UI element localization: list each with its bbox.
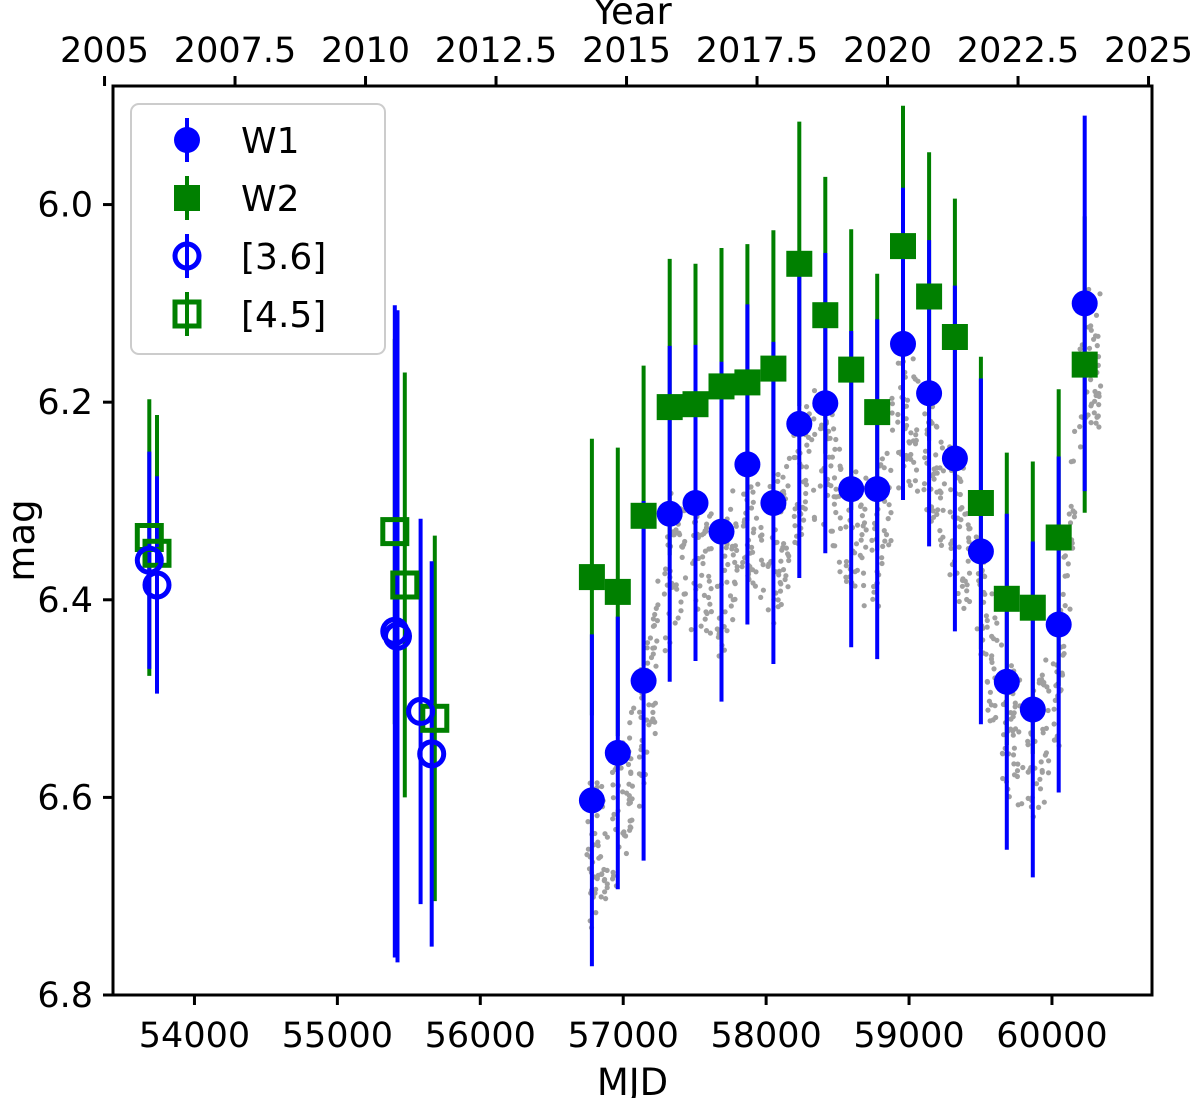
gray-scatter-point [785, 551, 790, 556]
gray-scatter-point [1046, 688, 1051, 693]
datapoint-W2 [579, 564, 605, 590]
gray-scatter-point [906, 439, 911, 444]
gray-scatter-point [700, 561, 705, 566]
gray-scatter-point [628, 825, 633, 830]
gray-scatter-point [610, 816, 615, 821]
gray-scatter-point [734, 548, 739, 553]
gray-scatter-point [1020, 765, 1025, 770]
gray-scatter-point [1011, 761, 1016, 766]
gray-scatter-point [859, 502, 864, 507]
gray-scatter-point [1040, 727, 1045, 732]
gray-scatter-point [801, 518, 806, 523]
gray-scatter-point [1061, 644, 1066, 649]
gray-scatter-point [960, 584, 965, 589]
gray-scatter-point [833, 437, 838, 442]
gray-scatter-point [834, 487, 839, 492]
gray-scatter-point [1078, 444, 1083, 449]
gray-scatter-point [663, 635, 668, 640]
datapoint-W1 [838, 476, 864, 502]
gray-scatter-point [913, 432, 918, 437]
gray-scatter-point [915, 489, 920, 494]
datapoint-W1 [968, 538, 994, 564]
gray-scatter-point [853, 469, 858, 474]
datapoint-W1 [864, 476, 890, 502]
top-axis-title: Year [592, 0, 672, 33]
gray-scatter-point [882, 465, 887, 470]
datapoint-W2 [605, 579, 631, 605]
gray-scatter-point [1093, 333, 1098, 338]
gray-scatter-point [637, 754, 642, 759]
gray-scatter-point [724, 580, 729, 585]
gray-scatter-point [941, 468, 946, 473]
gray-scatter-point [741, 523, 746, 528]
gray-scatter-point [804, 443, 809, 448]
light-curve-figure: 54000550005600057000580005900060000MJD6.… [0, 0, 1200, 1098]
legend-label-45: [4.5] [241, 295, 326, 336]
gray-scatter-point [702, 593, 707, 598]
gray-scatter-point [787, 456, 792, 461]
gray-scatter-point [683, 575, 688, 580]
gray-scatter-point [994, 638, 999, 643]
gray-scatter-point [1052, 707, 1057, 712]
gray-scatter-point [830, 529, 835, 534]
gray-scatter-point [682, 592, 687, 597]
gray-scatter-point [1067, 607, 1072, 612]
gray-scatter-point [806, 435, 811, 440]
gray-scatter-point [778, 559, 783, 564]
datapoint-W1 [605, 740, 631, 766]
gray-scatter-point [803, 506, 808, 511]
gray-scatter-point [662, 591, 667, 596]
gray-scatter-point [1066, 561, 1071, 566]
gray-scatter-point [942, 481, 947, 486]
xtick-label: 55000 [282, 1016, 393, 1056]
datapoint-W2 [812, 302, 838, 328]
gray-scatter-point [653, 731, 658, 736]
gray-scatter-point [907, 453, 912, 458]
datapoint-W2 [1046, 525, 1072, 551]
gray-scatter-point [793, 455, 798, 460]
gray-scatter-point [759, 532, 764, 537]
datapoint-W2 [942, 324, 968, 350]
gray-scatter-point [785, 584, 790, 589]
gray-scatter-point [880, 544, 885, 549]
gray-scatter-point [637, 771, 642, 776]
gray-scatter-point [595, 813, 600, 818]
year-tick-label: 2012.5 [435, 31, 557, 71]
gray-scatter-point [778, 589, 783, 594]
gray-scatter-point [879, 555, 884, 560]
gray-scatter-point [948, 509, 953, 514]
gray-scatter-point [1072, 514, 1077, 519]
gray-scatter-point [1044, 750, 1049, 755]
gray-scatter-point [730, 617, 735, 622]
datapoint-W2 [838, 357, 864, 383]
gray-scatter-point [599, 871, 604, 876]
gray-scatter-point [895, 420, 900, 425]
datapoint-W2 [994, 586, 1020, 612]
gray-scatter-point [1078, 347, 1083, 352]
legend-marker-W2 [174, 185, 200, 211]
gray-scatter-point [1086, 325, 1091, 330]
gray-scatter-point [887, 502, 892, 507]
gray-scatter-point [1089, 420, 1094, 425]
gray-scatter-point [888, 468, 893, 473]
datapoint-W1 [760, 490, 786, 516]
gray-scatter-point [991, 666, 996, 671]
gray-scatter-point [682, 539, 687, 544]
gray-scatter-point [689, 627, 694, 632]
gray-scatter-point [676, 615, 681, 620]
gray-scatter-point [886, 516, 891, 521]
gray-scatter-point [662, 571, 667, 576]
gray-scatter-point [732, 580, 737, 585]
gray-scatter-point [781, 541, 786, 546]
gray-scatter-point [838, 466, 843, 471]
year-tick-label: 2017.5 [696, 31, 818, 71]
gray-scatter-point [602, 877, 607, 882]
gray-scatter-point [785, 483, 790, 488]
gray-scatter-point [646, 722, 651, 727]
gray-scatter-point [724, 545, 729, 550]
gray-scatter-point [758, 525, 763, 530]
xtick-label: 57000 [568, 1016, 679, 1056]
gray-scatter-point [1016, 802, 1021, 807]
gray-scatter-point [724, 628, 729, 633]
gray-scatter-point [988, 690, 993, 695]
gray-scatter-point [922, 455, 927, 460]
gray-scatter-point [908, 430, 913, 435]
gray-scatter-point [830, 455, 835, 460]
datapoint-W1 [812, 390, 838, 416]
gray-scatter-point [653, 664, 658, 669]
gray-scatter-point [984, 652, 989, 657]
gray-scatter-point [605, 835, 610, 840]
gray-scatter-point [1011, 752, 1016, 757]
gray-scatter-point [651, 703, 656, 708]
gray-scatter-point [629, 710, 634, 715]
gray-scatter-point [1040, 770, 1045, 775]
gray-scatter-point [585, 819, 590, 824]
gray-scatter-point [749, 545, 754, 550]
gray-scatter-point [645, 661, 650, 666]
gray-scatter-point [1065, 573, 1070, 578]
gray-scatter-point [966, 526, 971, 531]
gray-scatter-point [1094, 393, 1099, 398]
gray-scatter-point [624, 851, 629, 856]
gray-scatter-point [749, 505, 754, 510]
gray-scatter-point [812, 388, 817, 393]
gray-scatter-point [761, 588, 766, 593]
gray-scatter-point [964, 588, 969, 593]
datapoint-W1 [579, 787, 605, 813]
gray-scatter-point [697, 583, 702, 588]
gray-scatter-point [776, 472, 781, 477]
datapoint-W2 [916, 284, 942, 310]
gray-scatter-point [862, 507, 867, 512]
gray-scatter-point [948, 487, 953, 492]
gray-scatter-point [915, 379, 920, 384]
gray-scatter-point [914, 427, 919, 432]
gray-scatter-point [1071, 459, 1076, 464]
gray-scatter-point [879, 561, 884, 566]
y-axis-title: mag [0, 499, 43, 581]
gray-scatter-point [1097, 291, 1102, 296]
gray-scatter-point [888, 510, 893, 515]
gray-scatter-point [750, 490, 755, 495]
gray-scatter-point [859, 532, 864, 537]
gray-scatter-point [611, 795, 616, 800]
gray-scatter-point [584, 852, 589, 857]
gray-scatter-point [1052, 721, 1057, 726]
gray-scatter-point [804, 404, 809, 409]
gray-scatter-point [1000, 751, 1005, 756]
gray-scatter-point [605, 868, 610, 873]
gray-scatter-point [627, 735, 632, 740]
gray-scatter-point [880, 456, 885, 461]
gray-scatter-point [885, 451, 890, 456]
gray-scatter-point [812, 517, 817, 522]
gray-scatter-point [699, 624, 704, 629]
gray-scatter-point [1069, 504, 1074, 509]
gray-scatter-point [854, 541, 859, 546]
year-tick-label: 2020 [843, 31, 932, 71]
datapoint-W1 [786, 411, 812, 437]
gray-scatter-point [1040, 673, 1045, 678]
gray-scatter-point [627, 797, 632, 802]
gray-scatter-point [673, 620, 678, 625]
gray-scatter-point [678, 608, 683, 613]
gray-scatter-point [886, 542, 891, 547]
gray-scatter-point [733, 521, 738, 526]
gray-scatter-point [652, 612, 657, 617]
gray-scatter-point [761, 562, 766, 567]
gray-scatter-point [626, 762, 631, 767]
gray-scatter-point [623, 833, 628, 838]
gray-scatter-point [709, 511, 714, 516]
gray-scatter-point [994, 621, 999, 626]
gray-scatter-point [626, 782, 631, 787]
gray-scatter-point [838, 515, 843, 520]
gray-scatter-point [832, 502, 837, 507]
gray-scatter-point [728, 507, 733, 512]
datapoint-W1 [994, 669, 1020, 695]
datapoint-W1 [1046, 612, 1072, 638]
gray-scatter-point [1037, 680, 1042, 685]
gray-scatter-point [707, 602, 712, 607]
gray-scatter-point [937, 528, 942, 533]
gray-scatter-point [628, 771, 633, 776]
gray-scatter-point [654, 638, 659, 643]
gray-scatter-point [1096, 402, 1101, 407]
gray-scatter-point [709, 546, 714, 551]
gray-scatter-point [777, 569, 782, 574]
gray-scatter-point [960, 576, 965, 581]
gray-scatter-point [966, 559, 971, 564]
gray-scatter-point [707, 579, 712, 584]
gray-scatter-point [921, 487, 926, 492]
gray-scatter-point [947, 572, 952, 577]
gray-scatter-point [703, 617, 708, 622]
gray-scatter-point [811, 416, 816, 421]
gray-scatter-point [729, 603, 734, 608]
ytick-label: 6.6 [37, 778, 93, 818]
gray-scatter-point [599, 894, 604, 899]
gray-scatter-point [989, 702, 994, 707]
gray-scatter-point [1063, 603, 1068, 608]
gray-scatter-point [932, 477, 937, 482]
gray-scatter-point [1046, 708, 1051, 713]
gray-scatter-point [844, 559, 849, 564]
gray-scatter-point [933, 452, 938, 457]
gray-scatter-point [939, 440, 944, 445]
gray-scatter-point [1077, 424, 1082, 429]
gray-scatter-point [858, 553, 863, 558]
datapoint-W2 [864, 399, 890, 425]
gray-scatter-point [812, 432, 817, 437]
gray-scatter-point [792, 523, 797, 528]
gray-scatter-point [730, 488, 735, 493]
gray-scatter-point [884, 532, 889, 537]
gray-scatter-point [709, 609, 714, 614]
gray-scatter-point [991, 717, 996, 722]
gray-scatter-point [935, 507, 940, 512]
gray-scatter-point [801, 479, 806, 484]
gray-scatter-point [1039, 759, 1044, 764]
gray-scatter-point [958, 507, 963, 512]
gray-scatter-point [703, 529, 708, 534]
gray-scatter-point [610, 782, 615, 787]
gray-scatter-point [985, 708, 990, 713]
gray-scatter-point [913, 478, 918, 483]
gray-scatter-point [1043, 657, 1048, 662]
gray-scatter-point [1042, 800, 1047, 805]
gray-scatter-point [905, 398, 910, 403]
year-tick-label: 2022.5 [957, 31, 1079, 71]
gray-scatter-point [645, 640, 650, 645]
gray-scatter-point [811, 488, 816, 493]
gray-scatter-point [914, 467, 919, 472]
gray-scatter-point [676, 531, 681, 536]
gray-scatter-point [1038, 786, 1043, 791]
gray-scatter-point [948, 541, 953, 546]
datapoint-W2 [760, 356, 786, 382]
gray-scatter-point [862, 603, 867, 608]
gray-scatter-point [804, 464, 809, 469]
gray-scatter-point [934, 424, 939, 429]
gray-scatter-point [674, 587, 679, 592]
gray-scatter-point [731, 552, 736, 557]
gray-scatter-point [914, 438, 919, 443]
gray-scatter-point [1089, 401, 1094, 406]
gray-scatter-point [890, 410, 895, 415]
gray-scatter-point [610, 876, 615, 881]
gray-scatter-point [1008, 710, 1013, 715]
gray-scatter-point [706, 574, 711, 579]
gray-scatter-point [758, 595, 763, 600]
gray-scatter-point [1087, 346, 1092, 351]
gray-scatter-point [734, 568, 739, 573]
gray-scatter-point [870, 548, 875, 553]
gray-scatter-point [1000, 776, 1005, 781]
gray-scatter-point [803, 491, 808, 496]
gray-scatter-point [861, 571, 866, 576]
year-tick-label: 2007.5 [174, 31, 296, 71]
gray-scatter-point [595, 876, 600, 881]
gray-scatter-point [779, 602, 784, 607]
gray-scatter-point [732, 597, 737, 602]
datapoint-W2 [1072, 352, 1098, 378]
year-tick-label: 2015 [582, 31, 671, 71]
chart-legend[interactable]: W1W2[3.6][4.5] [131, 104, 385, 354]
gray-scatter-point [1013, 701, 1018, 706]
datapoint-W2 [786, 251, 812, 277]
gray-scatter-point [957, 545, 962, 550]
legend-marker-W1 [174, 127, 200, 153]
gray-scatter-point [596, 856, 601, 861]
gray-scatter-point [1041, 680, 1046, 685]
gray-scatter-point [680, 555, 685, 560]
datapoint-W1 [942, 446, 968, 472]
gray-scatter-point [792, 540, 797, 545]
gray-scatter-point [855, 568, 860, 573]
year-tick-label: 2010 [321, 31, 410, 71]
gray-scatter-point [751, 500, 756, 505]
gray-scatter-point [837, 569, 842, 574]
gray-scatter-point [1088, 377, 1093, 382]
gray-scatter-point [652, 623, 657, 628]
gray-scatter-point [751, 530, 756, 535]
gray-scatter-point [864, 527, 869, 532]
gray-scatter-point [648, 635, 653, 640]
gray-scatter-point [938, 490, 943, 495]
datapoint-W2 [968, 490, 994, 516]
gray-scatter-point [818, 483, 823, 488]
gray-scatter-point [1094, 313, 1099, 318]
gray-scatter-point [896, 450, 901, 455]
gray-scatter-point [806, 449, 811, 454]
gray-scatter-point [931, 515, 936, 520]
datapoint-W1 [1020, 697, 1046, 723]
gray-scatter-point [832, 475, 837, 480]
gray-scatter-point [832, 447, 837, 452]
gray-scatter-point [911, 460, 916, 465]
xtick-label: 59000 [853, 1016, 964, 1056]
year-tick-label: 2005 [60, 31, 149, 71]
datapoint-W1 [916, 380, 942, 406]
gray-scatter-point [651, 616, 656, 621]
gray-scatter-point [755, 482, 760, 487]
gray-scatter-point [1009, 663, 1014, 668]
gray-scatter-point [1046, 758, 1051, 763]
gray-scatter-point [999, 642, 1004, 647]
gray-scatter-point [678, 599, 683, 604]
gray-scatter-point [628, 818, 633, 823]
gray-scatter-point [941, 508, 946, 513]
gray-scatter-point [992, 615, 997, 620]
gray-scatter-point [1063, 553, 1068, 558]
datapoint-W1 [1072, 290, 1098, 316]
gray-scatter-point [922, 411, 927, 416]
gray-scatter-point [1096, 424, 1101, 429]
gray-scatter-point [637, 804, 642, 809]
datapoint-W1 [683, 490, 709, 516]
gray-scatter-point [1015, 768, 1020, 773]
datapoint-W2 [683, 391, 709, 417]
gray-scatter-point [985, 618, 990, 623]
gray-scatter-point [709, 586, 714, 591]
gray-scatter-point [833, 510, 838, 515]
